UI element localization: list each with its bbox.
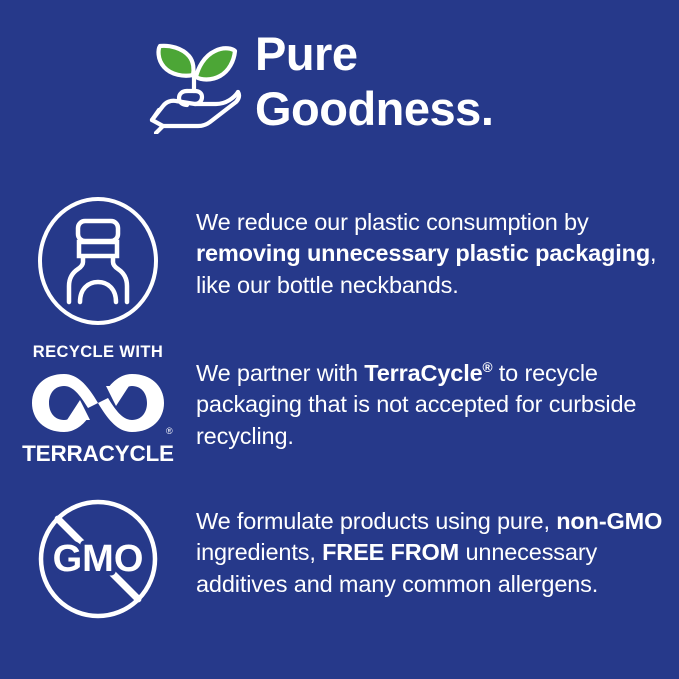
- text-segment-bold: FREE FROM: [322, 539, 459, 565]
- page-title-line1: Pure: [255, 27, 358, 80]
- text-segment: We partner with: [196, 360, 364, 386]
- infinity-recycling-arrows-icon: ®: [22, 366, 174, 440]
- benefit-row-terracycle: RECYCLE WITH ® TERRACYCLE We partner wit…: [0, 344, 679, 465]
- no-gmo-label: GMO: [53, 538, 144, 580]
- text-segment: We formulate products using pure,: [196, 508, 556, 534]
- text-segment-bold: removing unnecessary plastic packaging: [196, 240, 650, 266]
- benefit-row-non-gmo: GMO GMO We formulate products using pure…: [0, 496, 679, 622]
- hand-holding-sprout-icon: [146, 34, 246, 134]
- page-title: Pure Goodness.: [255, 26, 493, 137]
- pure-goodness-infographic: Pure Goodness. We reduce our plastic con…: [0, 0, 679, 679]
- benefit-text-plastic-reduction: We reduce our plastic consumption by rem…: [196, 196, 679, 301]
- text-segment-bold: TerraCycle: [364, 360, 482, 386]
- header: Pure Goodness.: [0, 28, 679, 153]
- terracycle-top-label: RECYCLE WITH: [22, 344, 174, 361]
- bottle-neckband-circle-icon: [36, 196, 160, 326]
- text-segment-bold: non-GMO: [556, 508, 662, 534]
- terracycle-registered-mark: ®: [166, 426, 173, 436]
- page-title-line2: Goodness.: [255, 81, 493, 136]
- no-gmo-circle-icon: GMO GMO: [35, 496, 161, 622]
- benefit-text-terracycle: We partner with TerraCycle® to recycle p…: [196, 344, 679, 452]
- registered-mark: ®: [483, 360, 493, 375]
- text-segment: ingredients,: [196, 539, 322, 565]
- terracycle-bottom-label: TERRACYCLE: [22, 443, 174, 466]
- benefit-icon-cell: [0, 196, 196, 326]
- text-segment: We reduce our plastic consumption by: [196, 209, 589, 235]
- benefit-icon-cell: GMO GMO: [0, 496, 196, 622]
- benefit-row-plastic-reduction: We reduce our plastic consumption by rem…: [0, 196, 679, 326]
- terracycle-logo: RECYCLE WITH ® TERRACYCLE: [22, 344, 174, 465]
- benefit-icon-cell: RECYCLE WITH ® TERRACYCLE: [0, 344, 196, 465]
- benefit-text-non-gmo: We formulate products using pure, non-GM…: [196, 496, 679, 600]
